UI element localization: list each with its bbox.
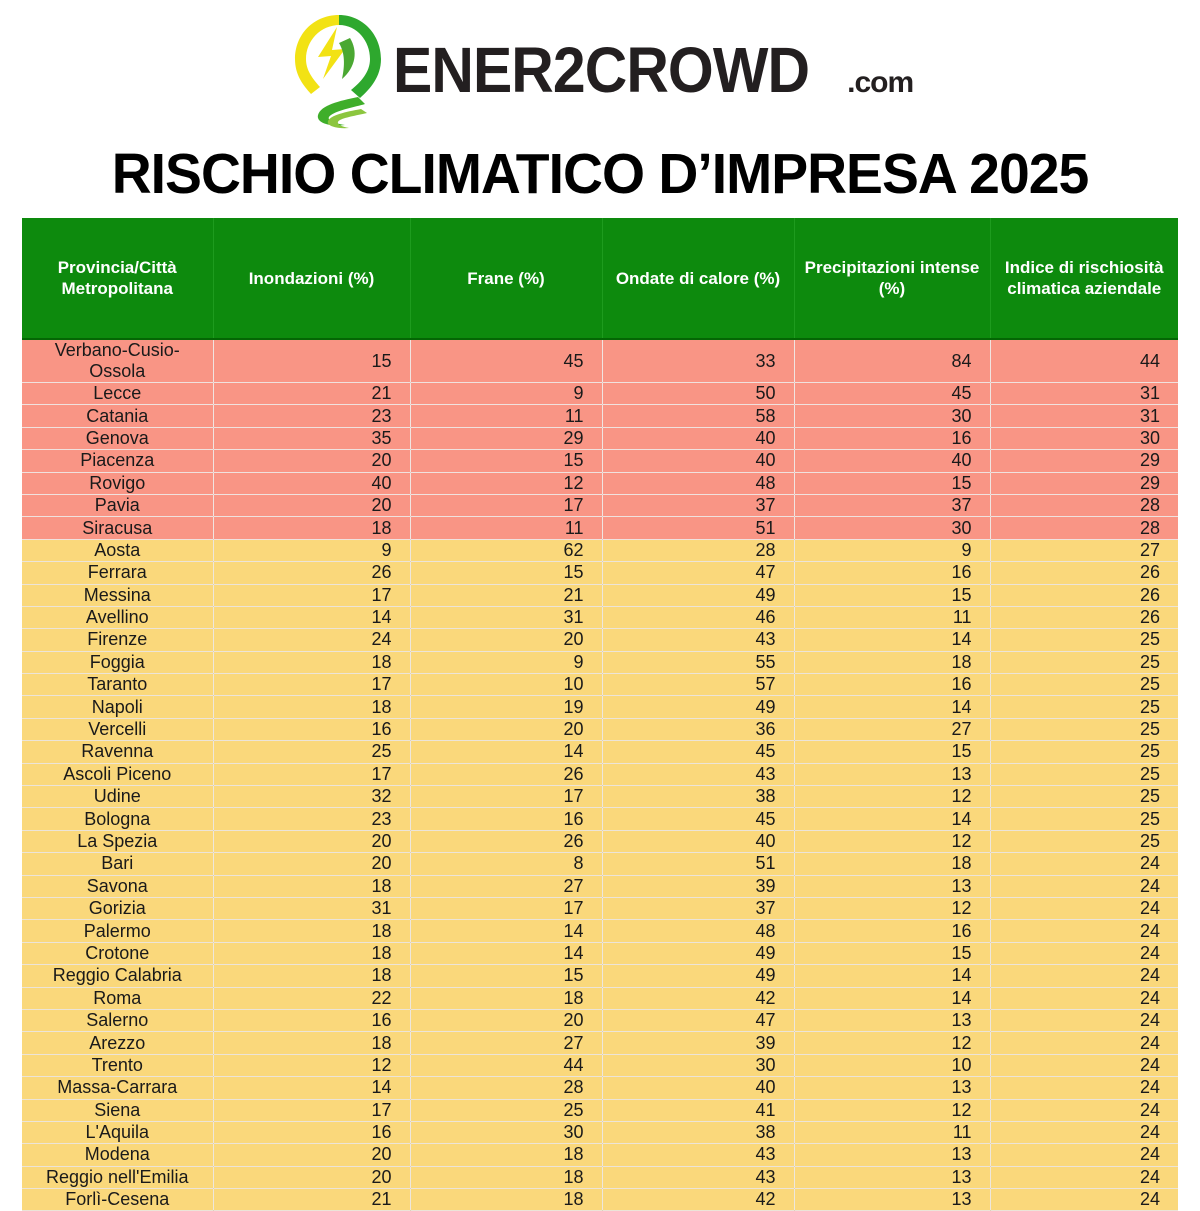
cell-inondazioni: 18 [213,942,410,964]
cell-inondazioni: 40 [213,472,410,494]
column-header-ondate-di-calore[interactable]: Ondate di calore (%) [602,218,794,339]
cell-frane: 26 [410,830,602,852]
cell-frane: 45 [410,339,602,383]
cell-ondate-di-calore: 43 [602,1166,794,1188]
cell-provincia: Roma [22,987,213,1009]
cell-inondazioni: 17 [213,674,410,696]
cell-provincia: Massa-Carrara [22,1077,213,1099]
cell-frane: 28 [410,1077,602,1099]
cell-precipitazioni-intense: 14 [794,629,990,651]
cell-precipitazioni-intense: 18 [794,853,990,875]
cell-ondate-di-calore: 49 [602,584,794,606]
cell-ondate-di-calore: 40 [602,427,794,449]
cell-provincia: Bologna [22,808,213,830]
cell-frane: 10 [410,674,602,696]
cell-frane: 15 [410,450,602,472]
cell-frane: 19 [410,696,602,718]
cell-ondate-di-calore: 39 [602,1032,794,1054]
cell-frane: 17 [410,897,602,919]
cell-ondate-di-calore: 37 [602,494,794,516]
cell-precipitazioni-intense: 16 [794,562,990,584]
cell-ondate-di-calore: 48 [602,472,794,494]
table-row[interactable]: Salerno1620471324 [22,1009,1178,1031]
cell-frane: 21 [410,584,602,606]
table-row[interactable]: Arezzo1827391224 [22,1032,1178,1054]
cell-indice-rischiosita: 24 [990,920,1178,942]
cell-frane: 18 [410,1144,602,1166]
cell-ondate-di-calore: 43 [602,629,794,651]
cell-frane: 20 [410,1009,602,1031]
table-row[interactable]: Ravenna2514451525 [22,741,1178,763]
cell-inondazioni: 14 [213,606,410,628]
table-row[interactable]: Messina1721491526 [22,584,1178,606]
table-row[interactable]: Bologna2316451425 [22,808,1178,830]
climate-risk-table: Provincia/Città Metropolitana Inondazion… [22,218,1178,1211]
cell-frane: 11 [410,517,602,539]
cell-indice-rischiosita: 25 [990,718,1178,740]
cell-frane: 30 [410,1121,602,1143]
cell-ondate-di-calore: 38 [602,1121,794,1143]
cell-provincia: Vercelli [22,718,213,740]
report-page: ENER2CROWD .com RISCHIO CLIMATICO D’IMPR… [0,0,1200,1200]
cell-inondazioni: 12 [213,1054,410,1076]
cell-ondate-di-calore: 47 [602,562,794,584]
cell-indice-rischiosita: 24 [990,1166,1178,1188]
cell-frane: 12 [410,472,602,494]
cell-precipitazioni-intense: 16 [794,427,990,449]
table-row[interactable]: Reggio Calabria1815491424 [22,965,1178,987]
cell-ondate-di-calore: 43 [602,1144,794,1166]
cell-provincia: Gorizia [22,897,213,919]
cell-provincia: Siena [22,1099,213,1121]
cell-ondate-di-calore: 37 [602,897,794,919]
cell-precipitazioni-intense: 14 [794,808,990,830]
cell-provincia: Aosta [22,539,213,561]
cell-indice-rischiosita: 31 [990,405,1178,427]
cell-provincia: Catania [22,405,213,427]
cell-provincia: Pavia [22,494,213,516]
table-row[interactable]: Ascoli Piceno1726431325 [22,763,1178,785]
cell-provincia: Genova [22,427,213,449]
cell-precipitazioni-intense: 15 [794,942,990,964]
cell-precipitazioni-intense: 16 [794,920,990,942]
cell-precipitazioni-intense: 37 [794,494,990,516]
cell-indice-rischiosita: 24 [990,875,1178,897]
cell-frane: 11 [410,405,602,427]
cell-provincia: Modena [22,1144,213,1166]
cell-ondate-di-calore: 38 [602,786,794,808]
cell-ondate-di-calore: 49 [602,696,794,718]
cell-indice-rischiosita: 44 [990,339,1178,383]
cell-precipitazioni-intense: 15 [794,741,990,763]
table-row[interactable]: Vercelli1620362725 [22,718,1178,740]
cell-inondazioni: 23 [213,405,410,427]
cell-inondazioni: 18 [213,1032,410,1054]
table-row[interactable]: Reggio nell'Emilia2018431324 [22,1166,1178,1188]
cell-precipitazioni-intense: 18 [794,651,990,673]
cell-precipitazioni-intense: 14 [794,696,990,718]
cell-provincia: Rovigo [22,472,213,494]
cell-ondate-di-calore: 45 [602,741,794,763]
cell-inondazioni: 16 [213,1121,410,1143]
table-row[interactable]: Aosta96228927 [22,539,1178,561]
cell-frane: 15 [410,562,602,584]
cell-precipitazioni-intense: 27 [794,718,990,740]
cell-provincia: Taranto [22,674,213,696]
cell-ondate-di-calore: 40 [602,450,794,472]
cell-ondate-di-calore: 28 [602,539,794,561]
cell-ondate-di-calore: 40 [602,830,794,852]
cell-frane: 14 [410,741,602,763]
table-row[interactable]: Crotone1814491524 [22,942,1178,964]
column-header-provincia[interactable]: Provincia/Città Metropolitana [22,218,213,339]
table-row[interactable]: Gorizia3117371224 [22,897,1178,919]
table-row[interactable]: Siena1725411224 [22,1099,1178,1121]
cell-provincia: Crotone [22,942,213,964]
table-row[interactable]: Pavia2017373728 [22,494,1178,516]
cell-inondazioni: 32 [213,786,410,808]
cell-precipitazioni-intense: 40 [794,450,990,472]
cell-inondazioni: 18 [213,875,410,897]
cell-ondate-di-calore: 51 [602,517,794,539]
table-row[interactable]: Bari208511824 [22,853,1178,875]
cell-inondazioni: 24 [213,629,410,651]
cell-indice-rischiosita: 29 [990,450,1178,472]
cell-indice-rischiosita: 25 [990,629,1178,651]
cell-inondazioni: 21 [213,383,410,405]
cell-provincia: L'Aquila [22,1121,213,1143]
cell-precipitazioni-intense: 13 [794,1166,990,1188]
cell-indice-rischiosita: 31 [990,383,1178,405]
table-row[interactable]: Massa-Carrara1428401324 [22,1077,1178,1099]
cell-ondate-di-calore: 42 [602,987,794,1009]
cell-indice-rischiosita: 24 [990,987,1178,1009]
cell-frane: 15 [410,965,602,987]
cell-frane: 16 [410,808,602,830]
table-row[interactable]: Genova3529401630 [22,427,1178,449]
cell-precipitazioni-intense: 13 [794,1077,990,1099]
cell-inondazioni: 25 [213,741,410,763]
brand-name: ENER2CROWD [393,38,809,102]
cell-frane: 25 [410,1099,602,1121]
cell-inondazioni: 18 [213,517,410,539]
table-row[interactable]: Roma2218421424 [22,987,1178,1009]
cell-provincia: Trento [22,1054,213,1076]
cell-frane: 26 [410,763,602,785]
cell-precipitazioni-intense: 12 [794,897,990,919]
cell-indice-rischiosita: 25 [990,651,1178,673]
cell-precipitazioni-intense: 30 [794,405,990,427]
table-row[interactable]: Firenze2420431425 [22,629,1178,651]
cell-ondate-di-calore: 43 [602,763,794,785]
table-body: Verbano-Cusio-Ossola1545338444Lecce21950… [22,339,1178,1211]
cell-precipitazioni-intense: 13 [794,875,990,897]
cell-inondazioni: 20 [213,494,410,516]
cell-precipitazioni-intense: 45 [794,383,990,405]
cell-ondate-di-calore: 51 [602,853,794,875]
cell-provincia: Firenze [22,629,213,651]
lightbulb-leaf-bolt-icon [287,9,387,131]
cell-provincia: Messina [22,584,213,606]
cell-provincia: Udine [22,786,213,808]
risk-table-container: Provincia/Città Metropolitana Inondazion… [22,218,1178,1211]
cell-inondazioni: 9 [213,539,410,561]
table-row[interactable]: La Spezia2026401225 [22,830,1178,852]
table-row[interactable]: Savona1827391324 [22,875,1178,897]
cell-precipitazioni-intense: 12 [794,1032,990,1054]
column-header-precipitazioni-intense[interactable]: Precipitazioni intense (%) [794,218,990,339]
table-row[interactable]: Avellino1431461126 [22,606,1178,628]
cell-ondate-di-calore: 55 [602,651,794,673]
cell-indice-rischiosita: 24 [990,1077,1178,1099]
table-row[interactable]: L'Aquila1630381124 [22,1121,1178,1143]
cell-frane: 44 [410,1054,602,1076]
cell-precipitazioni-intense: 11 [794,1121,990,1143]
cell-precipitazioni-intense: 13 [794,1144,990,1166]
cell-provincia: Ravenna [22,741,213,763]
cell-inondazioni: 18 [213,965,410,987]
cell-ondate-di-calore: 50 [602,383,794,405]
cell-inondazioni: 16 [213,718,410,740]
cell-frane: 14 [410,942,602,964]
column-header-inondazioni[interactable]: Inondazioni (%) [213,218,410,339]
cell-inondazioni: 18 [213,651,410,673]
cell-provincia: Avellino [22,606,213,628]
cell-provincia: Verbano-Cusio-Ossola [22,339,213,383]
cell-inondazioni: 20 [213,1144,410,1166]
cell-provincia: Arezzo [22,1032,213,1054]
cell-provincia: Reggio Calabria [22,965,213,987]
cell-provincia: Napoli [22,696,213,718]
brand-header: ENER2CROWD .com [0,0,1200,140]
cell-provincia: Piacenza [22,450,213,472]
cell-frane: 29 [410,427,602,449]
cell-indice-rischiosita: 26 [990,584,1178,606]
table-row[interactable]: Siracusa1811513028 [22,517,1178,539]
cell-inondazioni: 14 [213,1077,410,1099]
cell-frane: 9 [410,651,602,673]
cell-indice-rischiosita: 24 [990,965,1178,987]
table-row[interactable]: Palermo1814481624 [22,920,1178,942]
cell-provincia: Palermo [22,920,213,942]
table-row[interactable]: Foggia189551825 [22,651,1178,673]
cell-ondate-di-calore: 39 [602,875,794,897]
table-row[interactable]: Lecce219504531 [22,383,1178,405]
cell-indice-rischiosita: 26 [990,562,1178,584]
cell-inondazioni: 23 [213,808,410,830]
cell-precipitazioni-intense: 13 [794,1009,990,1031]
cell-indice-rischiosita: 25 [990,763,1178,785]
table-header: Provincia/Città Metropolitana Inondazion… [22,218,1178,339]
cell-inondazioni: 31 [213,897,410,919]
table-row[interactable]: Piacenza2015404029 [22,450,1178,472]
cell-inondazioni: 17 [213,584,410,606]
cell-indice-rischiosita: 24 [990,1144,1178,1166]
cell-precipitazioni-intense: 9 [794,539,990,561]
cell-provincia: La Spezia [22,830,213,852]
cell-precipitazioni-intense: 84 [794,339,990,383]
cell-indice-rischiosita: 28 [990,517,1178,539]
cell-frane: 18 [410,1166,602,1188]
cell-frane: 17 [410,786,602,808]
cell-ondate-di-calore: 49 [602,965,794,987]
cell-precipitazioni-intense: 10 [794,1054,990,1076]
page-title: RISCHIO CLIMATICO D’IMPRESA 2025 [18,144,1182,204]
cell-ondate-di-calore: 33 [602,339,794,383]
cell-precipitazioni-intense: 12 [794,1099,990,1121]
cell-frane: 62 [410,539,602,561]
cell-inondazioni: 20 [213,450,410,472]
cell-indice-rischiosita: 24 [990,1121,1178,1143]
cell-frane: 18 [410,987,602,1009]
cell-indice-rischiosita: 25 [990,808,1178,830]
cell-inondazioni: 20 [213,853,410,875]
cell-provincia: Siracusa [22,517,213,539]
cell-provincia: Foggia [22,651,213,673]
cell-indice-rischiosita: 26 [990,606,1178,628]
table-row[interactable]: Trento1244301024 [22,1054,1178,1076]
cell-inondazioni: 15 [213,339,410,383]
cell-inondazioni: 26 [213,562,410,584]
table-row[interactable]: Napoli1819491425 [22,696,1178,718]
cell-indice-rischiosita: 25 [990,741,1178,763]
cell-frane: 14 [410,920,602,942]
cell-inondazioni: 20 [213,830,410,852]
cell-indice-rischiosita: 24 [990,897,1178,919]
cell-provincia: Savona [22,875,213,897]
cell-ondate-di-calore: 47 [602,1009,794,1031]
cell-ondate-di-calore: 46 [602,606,794,628]
cell-ondate-di-calore: 36 [602,718,794,740]
cell-provincia: Ascoli Piceno [22,763,213,785]
cell-indice-rischiosita: 24 [990,1009,1178,1031]
cell-precipitazioni-intense: 15 [794,584,990,606]
cell-inondazioni: 17 [213,1099,410,1121]
table-row[interactable]: Catania2311583031 [22,405,1178,427]
cell-provincia: Salerno [22,1009,213,1031]
brand-wordmark: ENER2CROWD .com [393,38,913,102]
cell-inondazioni: 22 [213,987,410,1009]
cell-ondate-di-calore: 57 [602,674,794,696]
cell-precipitazioni-intense: 12 [794,786,990,808]
cell-indice-rischiosita: 24 [990,1032,1178,1054]
cell-indice-rischiosita: 25 [990,830,1178,852]
cell-precipitazioni-intense: 15 [794,472,990,494]
cell-inondazioni: 18 [213,920,410,942]
cell-provincia: Lecce [22,383,213,405]
cell-precipitazioni-intense: 14 [794,965,990,987]
cell-indice-rischiosita: 30 [990,427,1178,449]
table-row[interactable]: Taranto1710571625 [22,674,1178,696]
cell-indice-rischiosita: 25 [990,786,1178,808]
cell-provincia: Reggio nell'Emilia [22,1166,213,1188]
table-row[interactable]: Udine3217381225 [22,786,1178,808]
cell-inondazioni: 18 [213,696,410,718]
column-header-indice-rischiosita[interactable]: Indice di rischiosità climatica aziendal… [990,218,1178,339]
cell-frane: 17 [410,494,602,516]
cell-provincia: Ferrara [22,562,213,584]
cell-frane: 27 [410,1032,602,1054]
cell-indice-rischiosita: 24 [990,1099,1178,1121]
cell-frane: 20 [410,718,602,740]
cell-ondate-di-calore: 40 [602,1077,794,1099]
table-header-row: Provincia/Città Metropolitana Inondazion… [22,218,1178,339]
cell-ondate-di-calore: 49 [602,942,794,964]
cell-ondate-di-calore: 41 [602,1099,794,1121]
brand-tld: .com [847,68,913,98]
cell-indice-rischiosita: 24 [990,853,1178,875]
cell-inondazioni: 16 [213,1009,410,1031]
cell-indice-rischiosita: 29 [990,472,1178,494]
cell-ondate-di-calore: 30 [602,1054,794,1076]
cell-precipitazioni-intense: 30 [794,517,990,539]
cell-provincia: Bari [22,853,213,875]
cell-precipitazioni-intense: 16 [794,674,990,696]
cell-inondazioni: 20 [213,1166,410,1188]
cell-frane: 8 [410,853,602,875]
cell-precipitazioni-intense: 13 [794,763,990,785]
column-header-frane[interactable]: Frane (%) [410,218,602,339]
cell-precipitazioni-intense: 14 [794,987,990,1009]
table-row[interactable]: Modena2018431324 [22,1144,1178,1166]
cell-indice-rischiosita: 28 [990,494,1178,516]
table-row[interactable]: Rovigo4012481529 [22,472,1178,494]
cell-indice-rischiosita: 25 [990,674,1178,696]
cell-inondazioni: 17 [213,763,410,785]
cell-indice-rischiosita: 25 [990,696,1178,718]
table-row[interactable]: Verbano-Cusio-Ossola1545338444 [22,339,1178,383]
cell-frane: 31 [410,606,602,628]
cell-frane: 20 [410,629,602,651]
cell-indice-rischiosita: 24 [990,942,1178,964]
cell-frane: 27 [410,875,602,897]
cell-frane: 9 [410,383,602,405]
cell-ondate-di-calore: 45 [602,808,794,830]
cell-ondate-di-calore: 58 [602,405,794,427]
cell-inondazioni: 35 [213,427,410,449]
cell-precipitazioni-intense: 12 [794,830,990,852]
table-row[interactable]: Ferrara2615471626 [22,562,1178,584]
cell-indice-rischiosita: 27 [990,539,1178,561]
cell-indice-rischiosita: 24 [990,1054,1178,1076]
cell-ondate-di-calore: 48 [602,920,794,942]
cell-precipitazioni-intense: 11 [794,606,990,628]
